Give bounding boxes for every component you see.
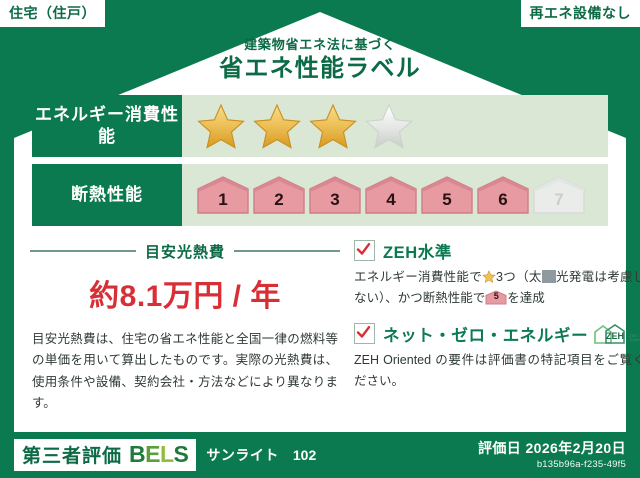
rule-left (30, 250, 136, 252)
insulation-badge-1: 1 (196, 175, 250, 215)
redacted-character (542, 270, 556, 283)
building-name: サンライト (206, 445, 279, 465)
zeh-body-post: を達成 (507, 291, 545, 305)
bels-logo: BELS (129, 443, 188, 466)
insulation-badge-value: 1 (196, 190, 250, 210)
star-icon-inline (482, 270, 496, 283)
insulation-badge-value: 7 (532, 190, 586, 210)
insulation-badge-3: 3 (308, 175, 362, 215)
check-body-net-zero-energy: ZEH Oriented の要件は評価書の特記項目をご覧ください。 (354, 350, 640, 392)
row-energy-performance: エネルギー消費性能 (32, 95, 608, 157)
zeh-body-pre: エネルギー消費性能で (354, 270, 482, 284)
title-subtitle: 建築物省エネ法に基づく (14, 38, 626, 52)
bottom-bar: 第三者評価 BELS サンライト 102 評価日 2026年2月20日 b135… (0, 432, 640, 478)
insulation-badge-4: 4 (364, 175, 418, 215)
cost-heading-text: 目安光熱費 (145, 241, 225, 262)
evaluation-date: 評価日 2026年2月20日 (478, 440, 626, 457)
zeh-oriented-logo: ZEH ZEH Oriented (593, 323, 640, 345)
svg-text:ZEH: ZEH (606, 331, 624, 341)
insulation-badge-value: 5 (420, 190, 474, 210)
check-block-zeh-level: ZEH水準 エネルギー消費性能で3つ（太光発電は考慮しない）、かつ断熱性能で5を… (354, 239, 640, 309)
insulation-badge-6: 6 (476, 175, 530, 215)
label-card: 建築物省エネ法に基づく 省エネ性能ラベル エネルギー消費性能 (14, 12, 626, 432)
cost-heading: 目安光熱費 (30, 241, 340, 262)
evaluation-info: 評価日 2026年2月20日 b135b96a-f235-49f5 (478, 440, 626, 471)
energy-performance-label: エネルギー消費性能 (32, 95, 182, 157)
insulation-level-inline-badge: 5 (485, 290, 507, 305)
insulation-badge-value: 2 (252, 190, 306, 210)
evaluation-id: b135b96a-f235-49f5 (478, 459, 626, 470)
check-title-zeh-level: ZEH水準 (383, 239, 452, 263)
tag-building-type: 住宅（住戸） (0, 0, 105, 27)
star-icon-filled-3 (308, 102, 358, 150)
insulation-badge-2: 2 (252, 175, 306, 215)
cost-amount: 約8.1万円 / 年 (30, 271, 340, 315)
third-party-evaluation-label: 第三者評価 (22, 447, 122, 466)
page-title: 省エネ性能ラベル (14, 56, 626, 82)
check-title-net-zero-energy: ネット・ゼロ・エネルギー (383, 322, 588, 346)
zeh-body-mid: 3つ（太 (496, 270, 542, 284)
zeh-logo-subtext: ZEH Oriented (629, 334, 640, 343)
bels-energy-label: 住宅（住戸） 再エネ設備なし 建築物省エネ法に基づく 省エネ性能ラベル エネルギ… (0, 0, 640, 478)
rule-right (234, 250, 340, 252)
insulation-badge-value: 6 (476, 190, 530, 210)
cost-column: 目安光熱費 約8.1万円 / 年 目安光熱費は、住宅の省エネ性能と全国一律の燃料… (30, 239, 348, 432)
star-icon-filled-2 (252, 102, 302, 150)
insulation-performance-badges: 1234567 (182, 164, 608, 226)
bels-badge: 第三者評価 BELS (14, 439, 196, 471)
cost-note: 目安光熱費は、住宅の省エネ性能と全国一律の燃料等の単価を用いて算出したものです。… (30, 329, 340, 415)
detail-columns: 目安光熱費 約8.1万円 / 年 目安光熱費は、住宅の省エネ性能と全国一律の燃料… (30, 239, 610, 432)
checkbox-net-zero-energy[interactable] (354, 323, 375, 344)
performance-rows: エネルギー消費性能 (32, 95, 608, 233)
criteria-column: ZEH水準 エネルギー消費性能で3つ（太光発電は考慮しない）、かつ断熱性能で5を… (348, 239, 640, 432)
unit-number: 102 (293, 447, 316, 463)
star-icon-filled-1 (196, 102, 246, 150)
insulation-badge-value: 3 (308, 190, 362, 210)
row-insulation-performance: 断熱性能 1234567 (32, 164, 608, 226)
insulation-badge-5: 5 (420, 175, 474, 215)
check-block-net-zero-energy: ネット・ゼロ・エネルギー ZEH ZEH Oriented (354, 322, 640, 392)
insulation-level-inline-value: 5 (485, 289, 507, 304)
tag-renewable-equipment: 再エネ設備なし (521, 0, 640, 27)
energy-performance-stars (182, 95, 608, 157)
insulation-badge-7: 7 (532, 175, 586, 215)
star-icon-empty-4 (364, 102, 414, 150)
checkbox-zeh-level[interactable] (354, 240, 375, 261)
insulation-performance-label: 断熱性能 (32, 164, 182, 226)
insulation-badge-value: 4 (364, 190, 418, 210)
check-body-zeh-level: エネルギー消費性能で3つ（太光発電は考慮しない）、かつ断熱性能で5を達成 (354, 267, 640, 309)
